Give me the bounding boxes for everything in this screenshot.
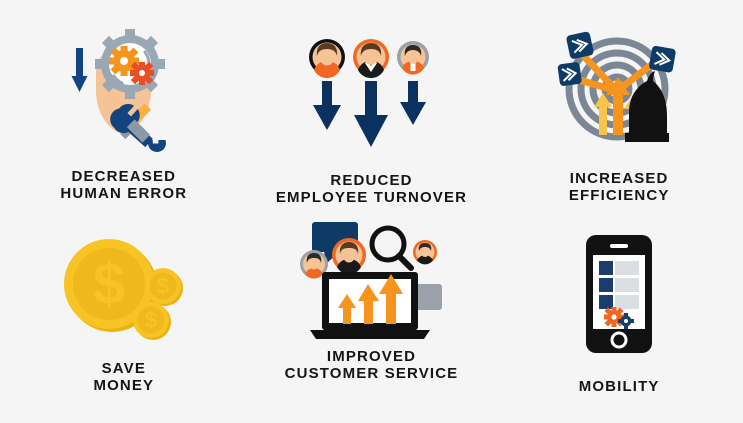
- screen-list-shape: [599, 261, 639, 309]
- down-arrow-shape: [71, 48, 87, 92]
- avatar-1-shape: [309, 39, 345, 78]
- benefit-item-increased-efficiency: INCREASED EFFICIENCY: [495, 0, 743, 206]
- benefit-label-save-money: SAVE MONEY: [93, 360, 154, 394]
- benefit-item-improved-customer-service: IMPROVED CUSTOMER SERVICE: [248, 206, 496, 423]
- benefit-label-decreased-human-error: DECREASED HUMAN ERROR: [60, 168, 187, 202]
- gold-coins-dollar-icon: $ $ $: [60, 206, 188, 354]
- benefit-item-reduced-employee-turnover: REDUCED EMPLOYEE TURNOVER: [248, 0, 496, 206]
- phone-speaker-shape: [610, 244, 628, 248]
- avatar-orange-shape: [332, 238, 366, 274]
- svg-text:$: $: [145, 308, 157, 333]
- benefit-label-increased-efficiency: INCREASED EFFICIENCY: [569, 170, 670, 204]
- coin-small-2-shape: $: [133, 302, 171, 340]
- benefit-label-improved-customer-service: IMPROVED CUSTOMER SERVICE: [285, 348, 459, 382]
- smartphone-gears-icon: [584, 206, 654, 364]
- benefit-item-decreased-human-error: DECREASED HUMAN ERROR: [0, 0, 248, 206]
- avatar-3-shape: [397, 41, 429, 75]
- benefit-item-save-money: $ $ $ SAVE MONEY: [0, 206, 248, 423]
- benefit-label-reduced-employee-turnover: REDUCED EMPLOYEE TURNOVER: [276, 172, 467, 206]
- magnifier-icon-shape: [372, 228, 411, 268]
- laptop-growth-arrows-chat-icon: [296, 206, 446, 344]
- target-darts-chess-knight-icon: [555, 0, 683, 166]
- svg-text:$: $: [157, 274, 169, 299]
- benefit-item-mobility: MOBILITY: [495, 206, 743, 423]
- brain-gears-wrench-icon: [59, 0, 189, 164]
- down-arrow-1-shape: [313, 81, 341, 130]
- avatar-orange-small-shape: [413, 240, 437, 264]
- down-arrow-2-shape: [354, 81, 388, 147]
- down-arrow-3-shape: [400, 81, 426, 125]
- benefit-label-mobility: MOBILITY: [579, 378, 660, 395]
- svg-text:$: $: [93, 252, 125, 317]
- employees-down-arrows-icon: [305, 0, 437, 170]
- gear-red-shape: [130, 62, 154, 85]
- benefits-infographic: DECREASED HUMAN ERROR: [0, 0, 743, 423]
- gear-orange-small-shape: [604, 307, 624, 327]
- avatar-2-shape: [353, 39, 389, 78]
